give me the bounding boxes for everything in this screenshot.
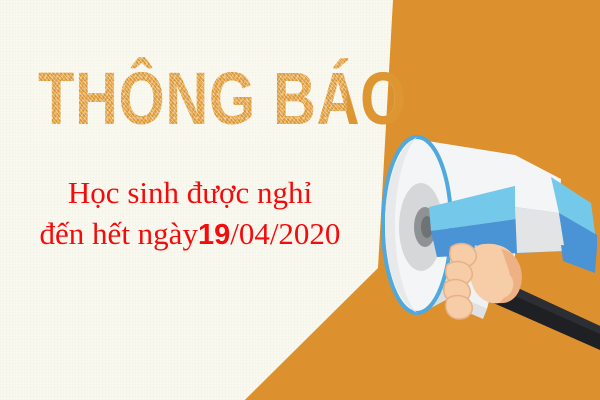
subtitle-line-1: Học sinh được nghỉ [0, 172, 380, 213]
announcement-poster: THÔNG BÁO Học sinh được nghỉ đến hết ngà… [0, 0, 600, 400]
subtitle-day-number: 19 [198, 219, 230, 251]
subtitle-line-2: đến hết ngày19/04/2020 [0, 213, 380, 256]
megaphone-illustration [355, 95, 600, 350]
subtitle: Học sinh được nghỉ đến hết ngày19/04/202… [0, 172, 380, 256]
page-title: THÔNG BÁO [38, 62, 342, 136]
subtitle-line-2-prefix: đến hết ngày [40, 216, 198, 251]
subtitle-month-year: /04/2020 [230, 216, 340, 251]
text-block: THÔNG BÁO Học sinh được nghỉ đến hết ngà… [0, 0, 380, 400]
